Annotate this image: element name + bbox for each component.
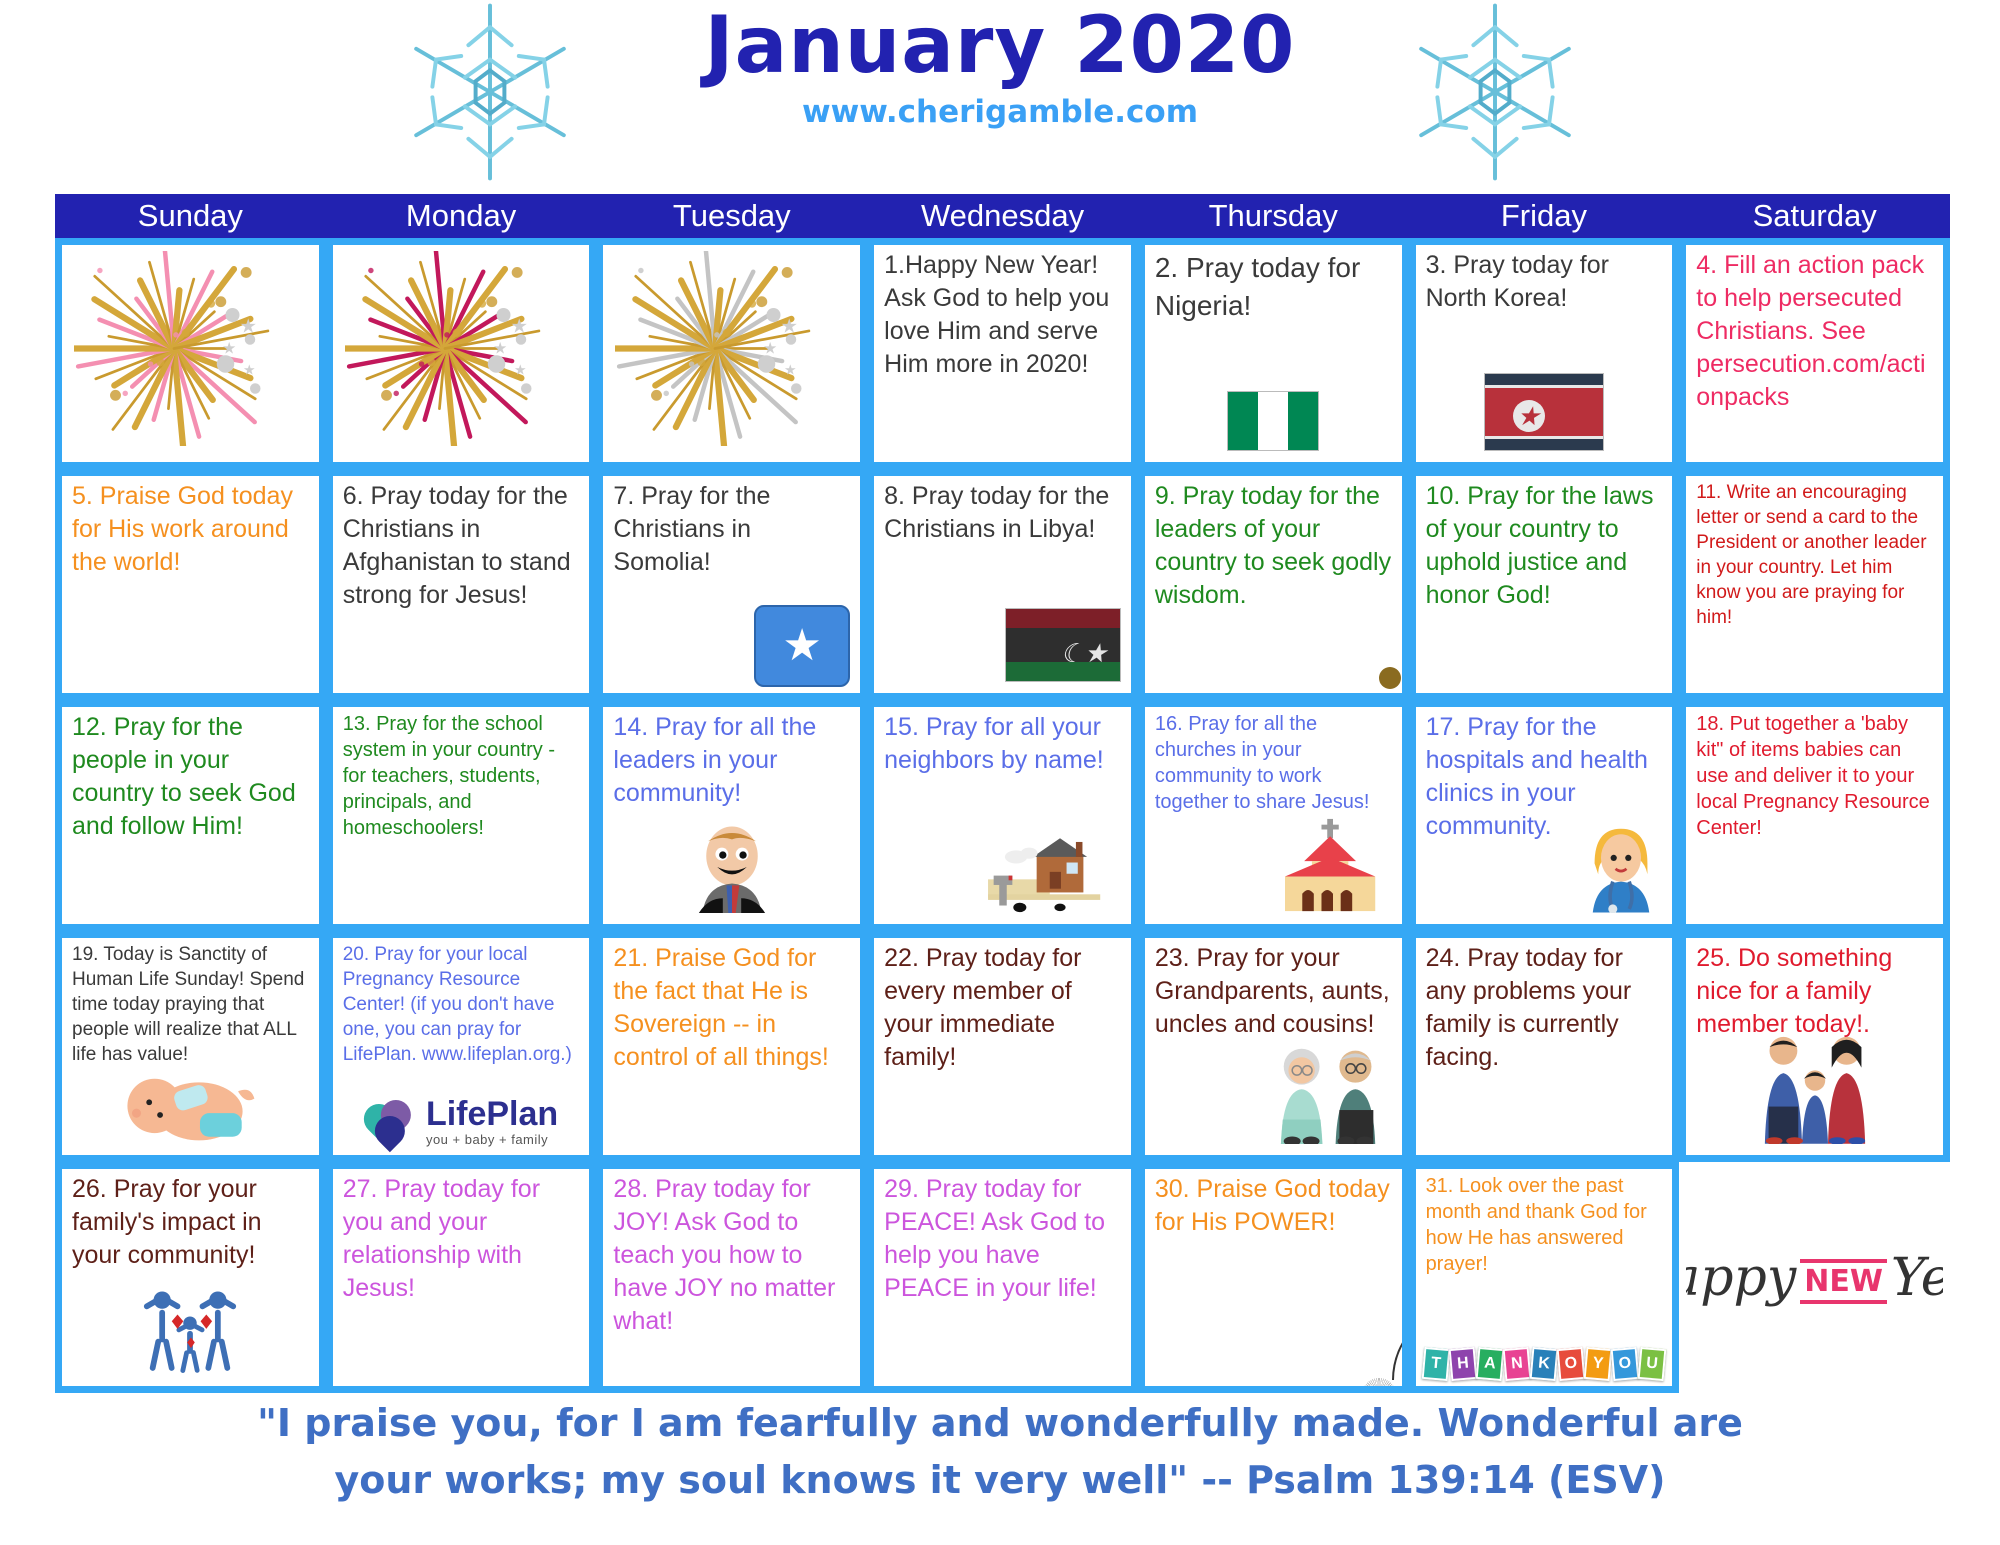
day-cell-14: 14. Pray for all the leaders in your com… (596, 700, 867, 931)
svg-text:★: ★ (784, 362, 797, 378)
presidential-seal-icon (1388, 669, 1392, 687)
day-cell-text: 3. Pray today for North Korea! (1426, 249, 1665, 315)
day-cell-2: 2. Pray today for Nigeria! (1138, 238, 1409, 469)
lifeplan-name: LifePlan (426, 1095, 558, 1133)
day-cell-text: 29. Pray today for PEACE! Ask God to hel… (884, 1173, 1123, 1305)
thankyou-letter: Y (1584, 1347, 1613, 1381)
church-icon (1274, 817, 1392, 918)
day-cell-text: 12. Pray for the people in your country … (72, 711, 311, 843)
svg-text:★: ★ (510, 317, 527, 338)
day-cell-9: 9. Pray today for the leaders of your co… (1138, 469, 1409, 700)
day-cell-text: 25. Do something nice for a family membe… (1696, 942, 1935, 1041)
day-cell-4: 4. Fill an action pack to help persecute… (1679, 238, 1950, 469)
day-cell-31: 31. Look over the past month and thank G… (1409, 1162, 1680, 1393)
day-cell-text: 17. Pray for the hospitals and health cl… (1426, 711, 1665, 843)
day-cell-text: 21. Praise God for the fact that He is S… (613, 942, 852, 1074)
leader-face-icon (684, 821, 780, 918)
day-cell-18: 18. Put together a 'baby kit" of items b… (1679, 700, 1950, 931)
house-icon (971, 827, 1121, 918)
lifeplan-tagline: you + baby + family (426, 1132, 548, 1147)
day-cell-text: 13. Pray for the school system in your c… (343, 711, 582, 841)
day-cell-text: 23. Pray for your Grandparents, aunts, u… (1155, 942, 1394, 1041)
day-cell-3: 3. Pray today for North Korea! ★ (1409, 238, 1680, 469)
day-cell-text: 1.Happy New Year! Ask God to help you lo… (884, 249, 1123, 381)
fireworks-icon: ★ ★ ★ (345, 251, 545, 451)
day-cell-17: 17. Pray for the hospitals and health cl… (1409, 700, 1680, 931)
hny-word-happy: Happy (1679, 1248, 1796, 1308)
thankyou-letter: N (1503, 1347, 1532, 1381)
day-cell-text: 6. Pray today for the Christians in Afgh… (343, 480, 582, 612)
day-cell-12: 12. Pray for the people in your country … (55, 700, 326, 931)
day-cell-20: 20. Pray for your local Pregnancy Resour… (326, 931, 597, 1162)
somalia-flag-icon: ★ (754, 605, 850, 687)
site-url[interactable]: www.cherigamble.com (0, 94, 2000, 130)
day-cell-empty: HappyNEWYear (1679, 1162, 1950, 1393)
verse-line-1: "I praise you, for I am fearfully and wo… (60, 1395, 1940, 1452)
thankyou-letter: O (1611, 1347, 1640, 1381)
day-cell-1: 1.Happy New Year! Ask God to help you lo… (867, 238, 1138, 469)
day-cell-text: 8. Pray today for the Christians in Liby… (884, 480, 1123, 546)
north-korea-flag-icon: ★ (1484, 373, 1604, 456)
weekday-monday: Monday (326, 194, 597, 238)
day-cell-23: 23. Pray for your Grandparents, aunts, u… (1138, 931, 1409, 1162)
day-cell-10: 10. Pray for the laws of your country to… (1409, 469, 1680, 700)
thankyou-letter: A (1476, 1347, 1505, 1381)
weekday-header-row: Sunday Monday Tuesday Wednesday Thursday… (55, 194, 1950, 238)
bible-verse: "I praise you, for I am fearfully and wo… (60, 1395, 1940, 1509)
weekday-sunday: Sunday (55, 194, 326, 238)
thankyou-letter: K (1530, 1347, 1559, 1381)
day-cell-29: 29. Pray today for PEACE! Ask God to hel… (867, 1162, 1138, 1393)
day-cell-text: 15. Pray for all your neighbors by name! (884, 711, 1123, 777)
stick-family-icon (136, 1279, 244, 1380)
day-cell-text: 27. Pray today for you and your relation… (343, 1173, 582, 1305)
svg-text:★: ★ (781, 317, 798, 338)
thankyou-letter: O (1557, 1347, 1586, 1381)
day-cell-text: 28. Pray today for JOY! Ask God to teach… (613, 1173, 852, 1338)
calendar-header: January 2020 www.cherigamble.com (0, 0, 2000, 195)
day-cell-text: 10. Pray for the laws of your country to… (1426, 480, 1665, 612)
day-cell-text: 31. Look over the past month and thank G… (1426, 1173, 1665, 1277)
page-title: January 2020 (0, 6, 2000, 88)
day-cell-empty: ★ ★ ★ (326, 238, 597, 469)
day-cell-text: 26. Pray for your family's impact in you… (72, 1173, 311, 1272)
family-icon (1750, 1032, 1880, 1149)
weekday-wednesday: Wednesday (867, 194, 1138, 238)
day-cell-text: 22. Pray today for every member of your … (884, 942, 1123, 1074)
day-cell-text: 30. Praise God today for His POWER! (1155, 1173, 1394, 1239)
day-cell-19: 19. Today is Sanctity of Human Life Sund… (55, 931, 326, 1162)
day-cell-7: 7. Pray for the Christians in Somolia!★ (596, 469, 867, 700)
svg-text:★: ★ (514, 362, 527, 378)
day-cell-13: 13. Pray for the school system in your c… (326, 700, 597, 931)
day-cell-8: 8. Pray today for the Christians in Liby… (867, 469, 1138, 700)
day-cell-text: 5. Praise God today for His work around … (72, 480, 311, 579)
thankyou-letter: H (1449, 1347, 1478, 1381)
happy-new-year-graphic: HappyNEWYear (1696, 1173, 1935, 1382)
day-cell-text: 4. Fill an action pack to help persecute… (1696, 249, 1935, 414)
calendar-grid: ★ ★ ★ ★ ★ ★ ★ ★ ★ 1.Happy New Year! Ask … (55, 238, 1950, 1393)
day-cell-text: 11. Write an encouraging letter or send … (1696, 480, 1935, 630)
libya-flag-icon: ☾★ (1005, 608, 1121, 687)
day-cell-text: 16. Pray for all the churches in your co… (1155, 711, 1394, 815)
svg-text:★: ★ (240, 317, 257, 338)
day-cell-text: 7. Pray for the Christians in Somolia! (613, 480, 852, 579)
day-cell-24: 24. Pray today for any problems your fam… (1409, 931, 1680, 1162)
day-cell-25: 25. Do something nice for a family membe… (1679, 931, 1950, 1162)
weekday-tuesday: Tuesday (596, 194, 867, 238)
verse-line-2: your works; my soul knows it very well" … (60, 1452, 1940, 1509)
day-cell-28: 28. Pray today for JOY! Ask God to teach… (596, 1162, 867, 1393)
day-cell-text: 18. Put together a 'baby kit" of items b… (1696, 711, 1935, 841)
day-cell-empty: ★ ★ ★ (55, 238, 326, 469)
svg-text:★: ★ (222, 341, 236, 358)
day-cell-15: 15. Pray for all your neighbors by name! (867, 700, 1138, 931)
weekday-friday: Friday (1409, 194, 1680, 238)
day-cell-text: 2. Pray today for Nigeria! (1155, 249, 1394, 325)
day-cell-text: 9. Pray today for the leaders of your co… (1155, 480, 1394, 612)
day-cell-5: 5. Praise God today for His work around … (55, 469, 326, 700)
fireworks-icon: ★ ★ ★ (615, 251, 815, 451)
day-cell-27: 27. Pray today for you and your relation… (326, 1162, 597, 1393)
weekday-saturday: Saturday (1679, 194, 1950, 238)
day-cell-text: 24. Pray today for any problems your fam… (1426, 942, 1665, 1074)
day-cell-text: 20. Pray for your local Pregnancy Resour… (343, 942, 582, 1067)
day-cell-16: 16. Pray for all the churches in your co… (1138, 700, 1409, 931)
svg-text:★: ★ (493, 341, 507, 358)
grandparents-icon (1266, 1044, 1392, 1149)
day-cell-26: 26. Pray for your family's impact in you… (55, 1162, 326, 1393)
svg-text:★: ★ (243, 362, 256, 378)
thankyou-letter: T (1422, 1347, 1451, 1381)
svg-text:★: ★ (763, 341, 777, 358)
title-block: January 2020 www.cherigamble.com (0, 6, 2000, 130)
day-cell-6: 6. Pray today for the Christians in Afgh… (326, 469, 597, 700)
day-cell-11: 11. Write an encouraging letter or send … (1679, 469, 1950, 700)
nigeria-flag-icon (1227, 391, 1319, 456)
weekday-thursday: Thursday (1138, 194, 1409, 238)
thankyou-letter: U (1638, 1347, 1667, 1381)
hny-word-new: NEW (1800, 1259, 1887, 1304)
baby-icon (110, 1066, 270, 1149)
day-cell-30: 30. Praise God today for His POWER! (1138, 1162, 1409, 1393)
lifeplan-logo: LifePlan you + baby + family (364, 1097, 558, 1149)
fireworks-icon: ★ ★ ★ (74, 251, 274, 451)
thank-you-icon: THANKOYOU (1423, 1348, 1665, 1380)
day-cell-text: 14. Pray for all the leaders in your com… (613, 711, 852, 810)
day-cell-text: 19. Today is Sanctity of Human Life Sund… (72, 942, 311, 1067)
day-cell-empty: ★ ★ ★ (596, 238, 867, 469)
hny-word-year: Year (1891, 1248, 1950, 1308)
day-cell-21: 21. Praise God for the fact that He is S… (596, 931, 867, 1162)
day-cell-22: 22. Pray today for every member of your … (867, 931, 1138, 1162)
